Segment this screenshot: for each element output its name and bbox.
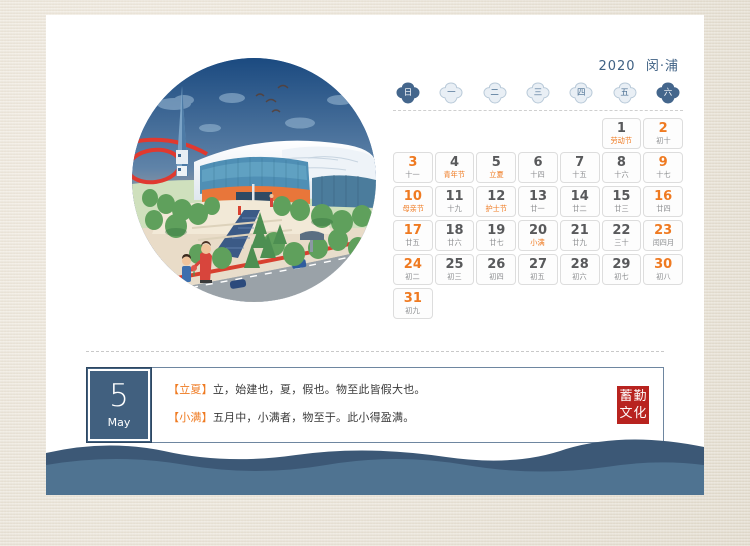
city-illustration [132,58,376,302]
weekday-label: 五 [620,89,629,98]
date-number: 24 [404,258,422,271]
date-number: 25 [446,258,464,271]
date-number: 9 [659,156,668,169]
date-number: 18 [446,224,464,237]
date-lunar-label: 廿三 [614,205,628,212]
calendar-card: 2020 闵·浦 日一二三四五六 1劳动节2初十3十一4青年节5立夏6十四7十五… [46,15,704,495]
date-cell-empty [518,118,558,149]
date-cell[interactable]: 31初九 [393,288,433,319]
weekday-badge-6: 六 [656,82,680,104]
quote-line-2: 【小满】五月中，小满者，物至于。此小得盈满。 [168,409,663,425]
date-lunar-label: 三十 [614,239,628,246]
date-lunar-label: 十九 [447,205,461,212]
date-cell[interactable]: 23闰四月 [643,220,683,251]
date-lunar-label: 十六 [614,171,628,178]
seal-char-3: 化 [633,405,647,422]
weekday-label: 一 [447,89,456,98]
date-cell[interactable]: 30初八 [643,254,683,285]
year-label: 2020 [598,59,635,74]
month-badge: 5 May [86,367,152,443]
date-lunar-label: 小满 [531,239,545,246]
date-number: 11 [446,190,464,203]
date-lunar-label: 十五 [573,171,587,178]
weekday-label: 六 [664,89,673,98]
date-number: 7 [575,156,584,169]
date-cell[interactable]: 16廿四 [643,186,683,217]
weekday-badge-4: 四 [569,82,593,104]
calendar-panel: 2020 闵·浦 日一二三四五六 1劳动节2初十3十一4青年节5立夏6十四7十五… [393,55,683,319]
seal-char-0: 蓄 [619,388,633,405]
date-lunar-label: 廿四 [656,205,670,212]
date-cell[interactable]: 2初十 [643,118,683,149]
date-cell[interactable]: 29初七 [602,254,642,285]
seal-char-1: 勤 [633,388,647,405]
date-cell[interactable]: 15廿三 [602,186,642,217]
weekday-badge-0: 日 [396,82,420,104]
date-cell[interactable]: 24初二 [393,254,433,285]
seal-char-2: 文 [619,405,633,422]
date-cell[interactable]: 13廿一 [518,186,558,217]
date-number: 30 [654,258,672,271]
date-lunar-label: 初二 [406,273,420,280]
date-number: 19 [487,224,505,237]
date-cell[interactable]: 11十九 [435,186,475,217]
date-lunar-label: 青年节 [444,171,466,178]
date-number: 22 [612,224,630,237]
date-number: 15 [612,190,630,203]
date-cell[interactable]: 28初六 [560,254,600,285]
date-number: 17 [404,224,422,237]
weekday-badge-2: 二 [483,82,507,104]
date-grid: 1劳动节2初十3十一4青年节5立夏6十四7十五8十六9十七10母亲节11十九12… [393,118,683,319]
weekday-badge-3: 三 [526,82,550,104]
date-number: 4 [450,156,459,169]
date-cell-empty [560,118,600,149]
date-cell[interactable]: 17廿五 [393,220,433,251]
date-lunar-label: 廿五 [406,239,420,246]
date-lunar-label: 母亲节 [402,205,424,212]
date-lunar-label: 初三 [447,273,461,280]
date-lunar-label: 初四 [489,273,503,280]
date-cell[interactable]: 20小满 [518,220,558,251]
date-number: 5 [492,156,501,169]
date-number: 26 [487,258,505,271]
date-number: 13 [529,190,547,203]
illustration-container [132,58,376,302]
date-cell[interactable]: 3十一 [393,152,433,183]
date-number: 20 [529,224,547,237]
date-cell[interactable]: 22三十 [602,220,642,251]
date-lunar-label: 立夏 [489,171,503,178]
date-number: 8 [617,156,626,169]
section-divider [86,351,664,352]
date-number: 14 [571,190,589,203]
date-lunar-label: 初十 [656,137,670,144]
quote-text-body: 【立夏】立，始建也，夏，假也。物至此皆假大也。 【小满】五月中，小满者，物至于。… [152,367,664,443]
date-lunar-label: 初九 [406,307,420,314]
weekday-badge-5: 五 [613,82,637,104]
date-lunar-label: 廿六 [447,239,461,246]
date-number: 28 [571,258,589,271]
date-lunar-label: 廿七 [489,239,503,246]
date-number: 27 [529,258,547,271]
date-cell[interactable]: 26初四 [476,254,516,285]
date-lunar-label: 十四 [531,171,545,178]
date-cell[interactable]: 21廿九 [560,220,600,251]
date-number: 12 [487,190,505,203]
date-number: 29 [612,258,630,271]
header-divider [393,110,683,111]
date-cell[interactable]: 1劳动节 [602,118,642,149]
region-label: 闵·浦 [641,59,679,74]
date-lunar-label: 初六 [573,273,587,280]
date-cell[interactable]: 18廿六 [435,220,475,251]
date-cell[interactable]: 12护士节 [476,186,516,217]
date-number: 1 [617,122,626,135]
date-cell[interactable]: 6十四 [518,152,558,183]
date-cell[interactable]: 14廿二 [560,186,600,217]
month-name: May [108,416,131,429]
date-cell[interactable]: 8十六 [602,152,642,183]
weekday-header-row: 日一二三四五六 [393,82,683,104]
weekday-label: 三 [534,89,543,98]
date-number: 31 [404,292,422,305]
date-cell[interactable]: 7十五 [560,152,600,183]
red-seal-stamp: 蓄勤文化 [617,386,649,424]
year-region-header: 2020 闵·浦 [393,55,683,73]
weekday-label: 日 [404,89,413,98]
weekday-badge-1: 一 [439,82,463,104]
date-cell[interactable]: 4青年节 [435,152,475,183]
date-cell[interactable]: 10母亲节 [393,186,433,217]
date-cell[interactable]: 5立夏 [476,152,516,183]
wave-decoration [46,435,704,495]
date-number: 6 [533,156,542,169]
date-cell-empty [476,118,516,149]
date-lunar-label: 初五 [531,273,545,280]
date-cell[interactable]: 27初五 [518,254,558,285]
date-cell[interactable]: 19廿七 [476,220,516,251]
month-number: 5 [109,381,129,412]
date-lunar-label: 护士节 [485,205,507,212]
quote-line-1-text: 立，始建也，夏，假也。物至此皆假大也。 [213,383,426,396]
date-number: 2 [659,122,668,135]
solar-term-tag-xiaoman: 【小满】 [168,411,213,424]
date-lunar-label: 初八 [656,273,670,280]
date-lunar-label: 劳动节 [611,137,633,144]
date-lunar-label: 廿九 [573,239,587,246]
quote-line-1: 【立夏】立，始建也，夏，假也。物至此皆假大也。 [168,381,663,397]
date-lunar-label: 闰四月 [652,239,674,246]
date-lunar-label: 十一 [406,171,420,178]
date-cell-empty [435,118,475,149]
weekday-label: 二 [490,89,499,98]
month-quote-strip: 5 May 【立夏】立，始建也，夏，假也。物至此皆假大也。 【小满】五月中，小满… [86,367,664,443]
date-lunar-label: 十七 [656,171,670,178]
date-number: 23 [654,224,672,237]
date-cell-empty [393,118,433,149]
date-number: 21 [571,224,589,237]
weekday-label: 四 [577,89,586,98]
date-lunar-label: 初七 [614,273,628,280]
quote-line-2-text: 五月中，小满者，物至于。此小得盈满。 [213,411,415,424]
solar-term-tag-lixia: 【立夏】 [168,383,213,396]
date-lunar-label: 廿一 [531,205,545,212]
date-number: 16 [654,190,672,203]
date-number: 3 [408,156,417,169]
date-number: 10 [404,190,422,203]
date-lunar-label: 廿二 [573,205,587,212]
date-cell[interactable]: 25初三 [435,254,475,285]
date-cell[interactable]: 9十七 [643,152,683,183]
